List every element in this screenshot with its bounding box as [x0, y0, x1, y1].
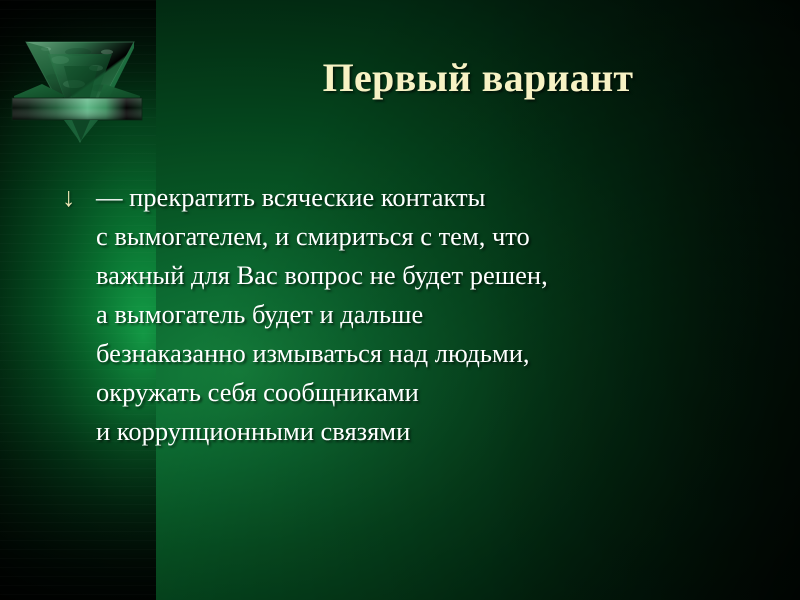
body-line-text: а вымогатель будет и дальше: [96, 295, 423, 334]
body-line: и коррупционными связями: [62, 412, 762, 451]
down-arrow-bullet-icon: ↓: [62, 178, 96, 217]
body-line-text: окружать себя сообщниками: [96, 373, 419, 412]
body-line: ↓ — прекратить всяческие контакты: [62, 178, 762, 217]
body-line-text: и коррупционными связями: [96, 412, 410, 451]
body-line: безнаказанно измываться над людьми,: [62, 334, 762, 373]
body-line: а вымогатель будет и дальше: [62, 295, 762, 334]
body-line-text: важный для Вас вопрос не будет решен,: [96, 256, 548, 295]
body-line-text: — прекратить всяческие контакты: [96, 178, 485, 217]
triangle-prism-logo: [8, 22, 146, 146]
slide-title: Первый вариант: [156, 54, 800, 102]
body-line: важный для Вас вопрос не будет решен,: [62, 256, 762, 295]
body-line-text: с вымогателем, и смириться с тем, что: [96, 217, 530, 256]
body-line-text: безнаказанно измываться над людьми,: [96, 334, 530, 373]
body-line: с вымогателем, и смириться с тем, что: [62, 217, 762, 256]
presentation-slide: Первый вариант ↓ — прекратить всяческие …: [0, 0, 800, 600]
slide-body: ↓ — прекратить всяческие контакты с вымо…: [62, 178, 762, 451]
body-line: окружать себя сообщниками: [62, 373, 762, 412]
